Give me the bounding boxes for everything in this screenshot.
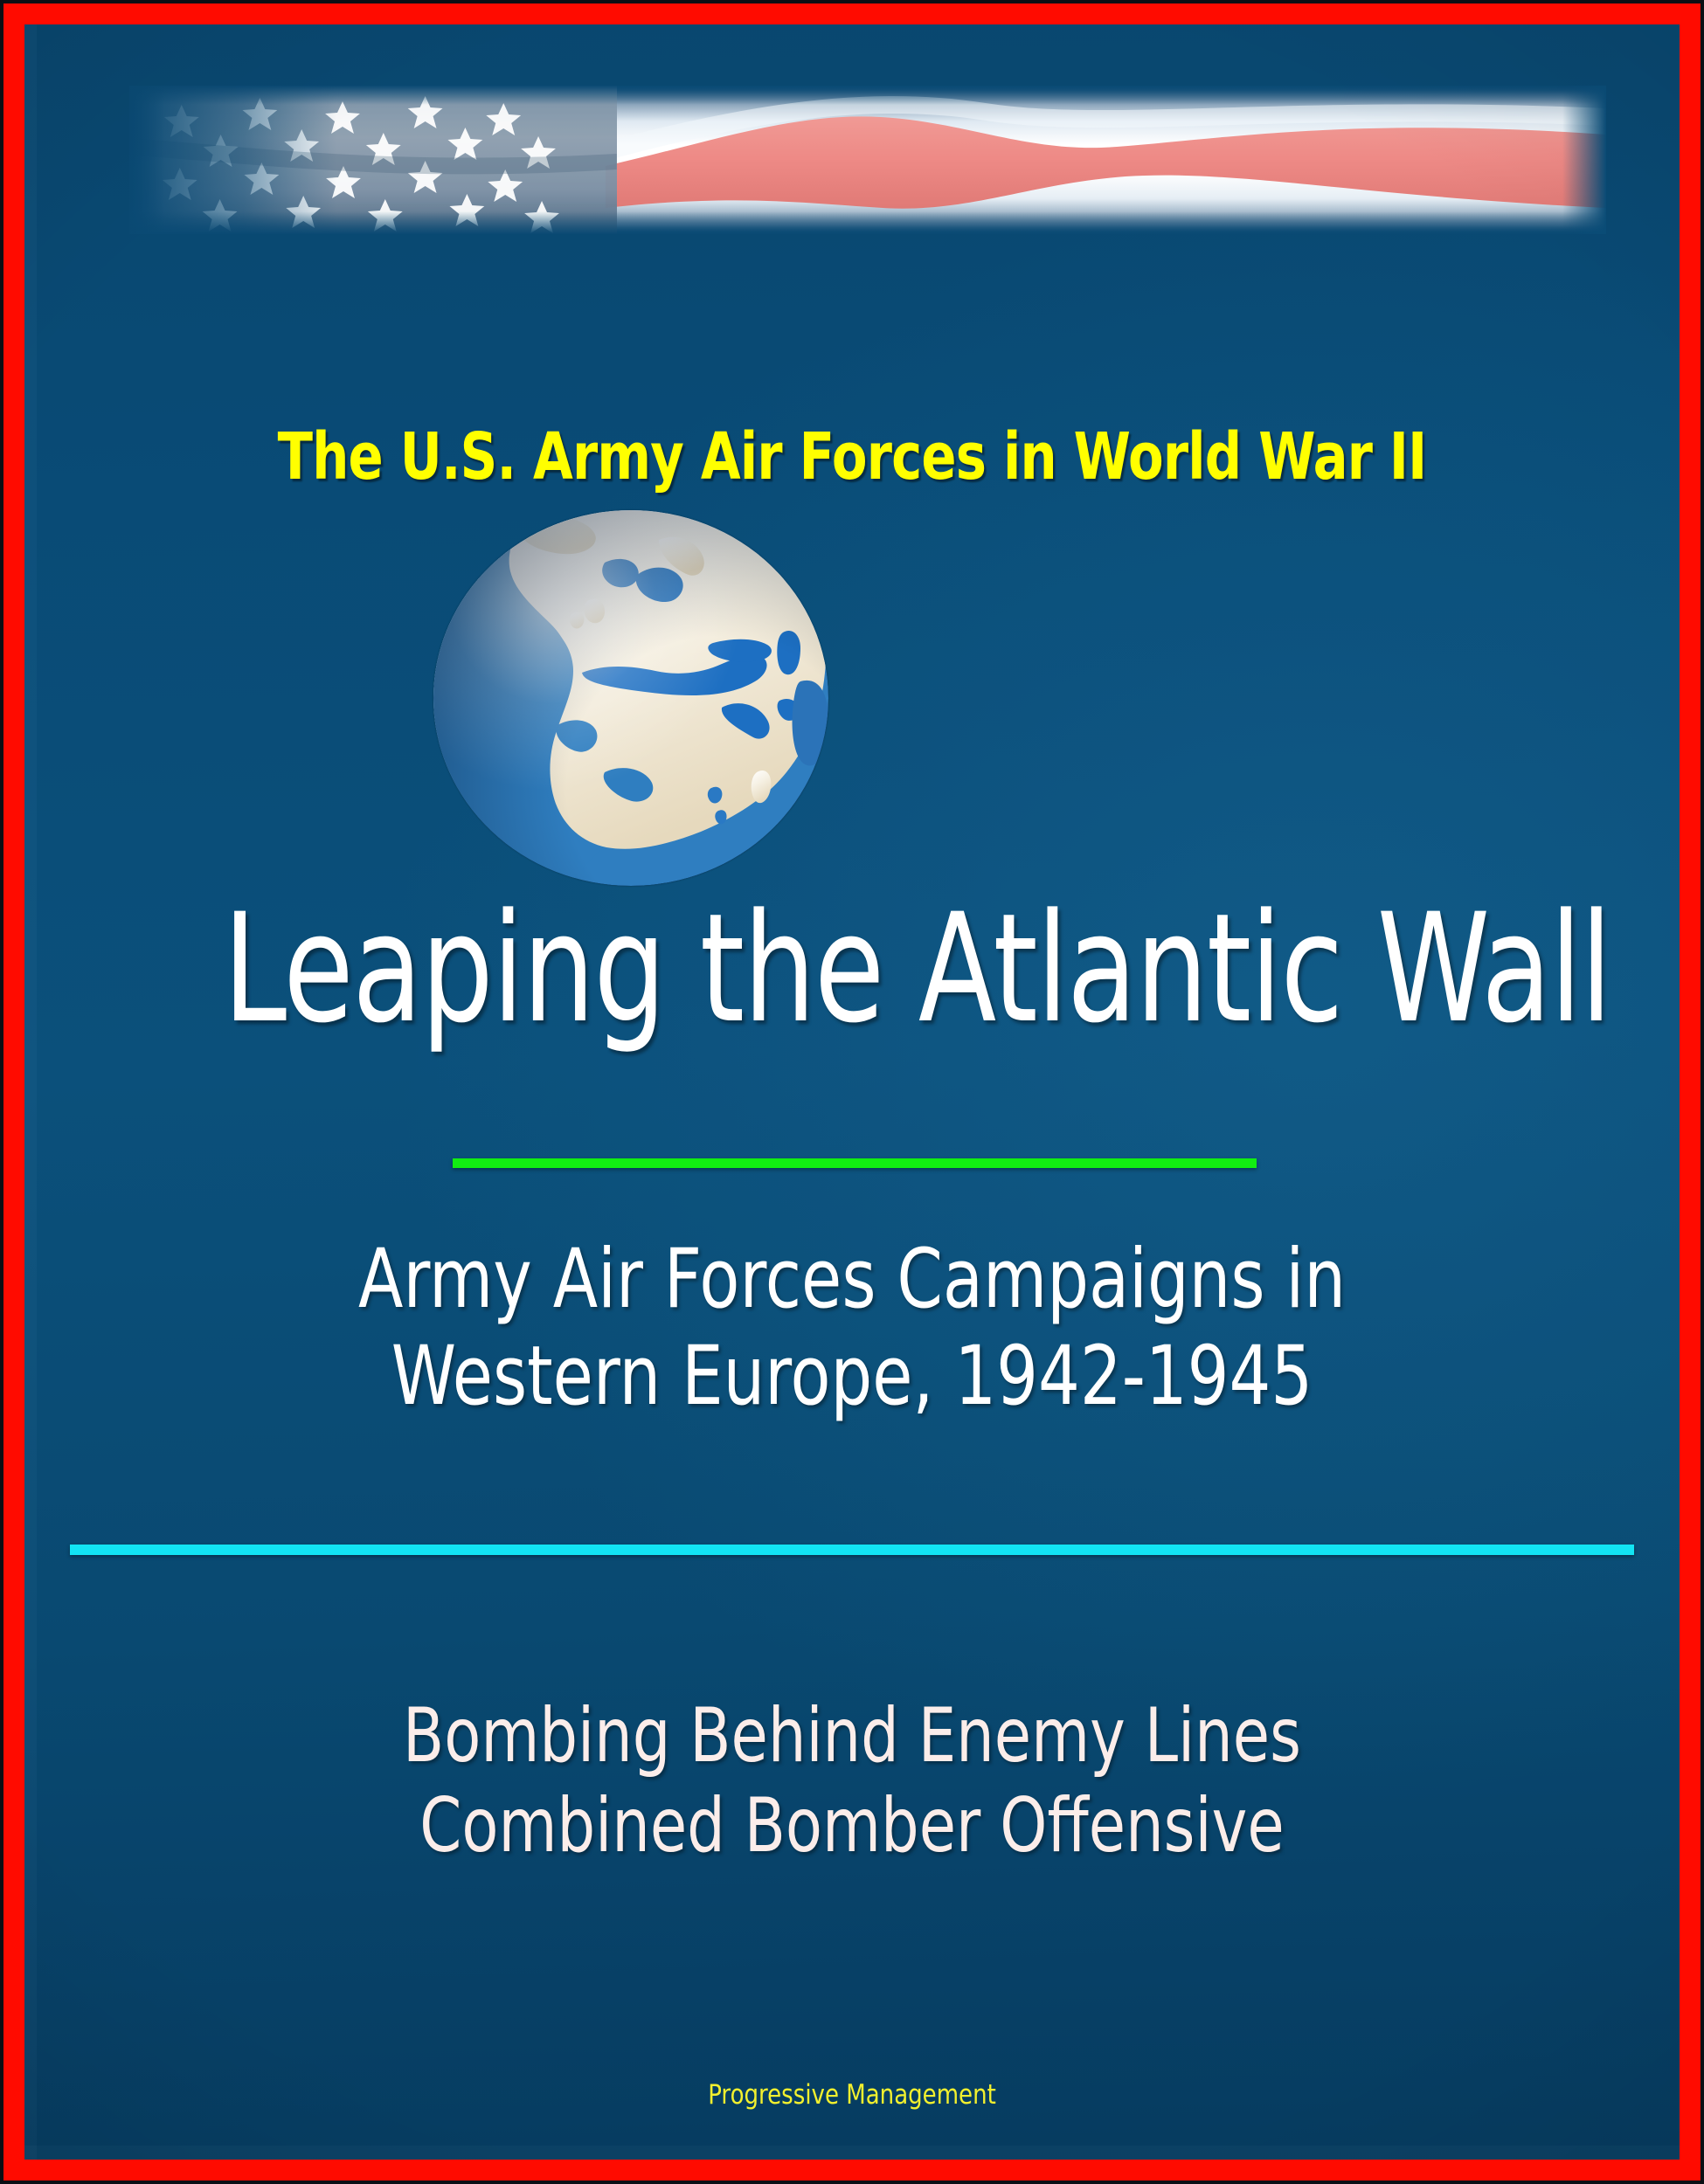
subtitle-line-2: Western Europe, 1942-1945	[190, 1329, 1514, 1426]
green-divider-rule	[453, 1158, 1257, 1168]
series-title: The U.S. Army Air Forces in World War II	[190, 419, 1514, 494]
page-title: Leaping the Atlantic Wall	[223, 894, 1480, 1044]
cyan-divider-rule	[70, 1545, 1634, 1555]
publisher-name: Progressive Management	[157, 2079, 1548, 2111]
us-flag-banner	[129, 86, 1606, 234]
flag-fade-top	[129, 86, 1606, 105]
subtitle-block: Army Air Forces Campaigns in Western Eur…	[190, 1232, 1514, 1426]
book-cover: The U.S. Army Air Forces in World War II	[0, 0, 1704, 2184]
flag-fade-bottom	[129, 211, 1606, 234]
globe-landmasses	[433, 510, 828, 886]
tagline-block: Bombing Behind Enemy Lines Combined Bomb…	[190, 1691, 1514, 1871]
tagline-line-2: Combined Bomber Offensive	[190, 1781, 1514, 1871]
subtitle-line-1: Army Air Forces Campaigns in	[190, 1232, 1514, 1329]
tagline-line-1: Bombing Behind Enemy Lines	[190, 1691, 1514, 1781]
cover-inner-panel: The U.S. Army Air Forces in World War II	[24, 24, 1680, 2160]
globe-europe-africa-icon	[433, 510, 828, 886]
flag-fade-left	[129, 86, 164, 234]
flag-fade-right	[1562, 86, 1606, 234]
